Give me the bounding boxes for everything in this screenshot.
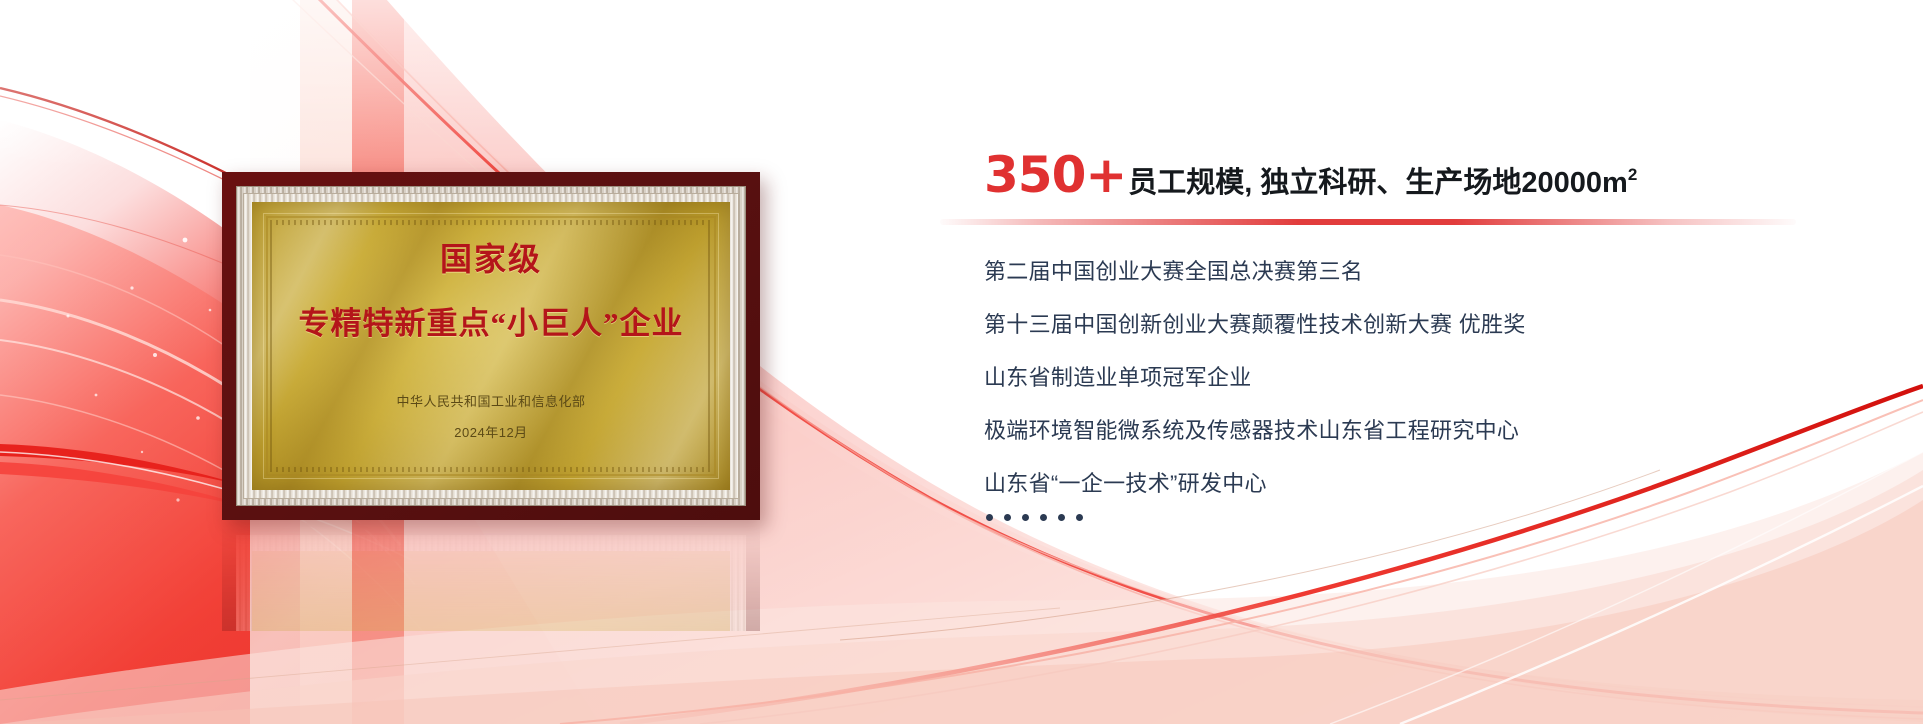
headline-metric-number: 350+ xyxy=(984,150,1126,200)
honors-list: 第二届中国创业大赛全国总决赛第三名 第十三届中国创新创业大赛颠覆性技术创新大赛 … xyxy=(984,261,1864,495)
plaque-text-block: 国家级 专精特新重点“小巨人”企业 中华人民共和国工业和信息化部 2024年12… xyxy=(262,218,720,480)
ellipsis-dot xyxy=(1040,514,1047,521)
ellipsis-dot xyxy=(1022,514,1029,521)
headline: 350+ 员工规模, 独立科研、生产场地20000m 2 xyxy=(984,150,1864,200)
headline-metric-text: 员工规模, 独立科研、生产场地20000m xyxy=(1128,169,1628,198)
plaque-reflection-gold-plate xyxy=(252,551,730,631)
headline-underline-rule xyxy=(940,219,1796,225)
plaque-title-line-1: 国家级 xyxy=(440,234,542,280)
ellipsis-dot xyxy=(986,514,993,521)
plaque-frame: 国家级 专精特新重点“小巨人”企业 中华人民共和国工业和信息化部 2024年12… xyxy=(222,172,760,520)
ellipsis-dot xyxy=(1058,514,1065,521)
plaque-date: 2024年12月 xyxy=(454,422,527,441)
ellipsis-dot xyxy=(1076,514,1083,521)
honor-item: 第二届中国创业大赛全国总决赛第三名 xyxy=(984,261,1864,283)
ellipsis-dot xyxy=(1004,514,1011,521)
honor-item: 山东省“一企一技术”研发中心 xyxy=(984,473,1864,495)
plaque-reflection xyxy=(222,521,760,631)
plaque-reflection-frame xyxy=(222,521,760,631)
plaque-title-line-2: 专精特新重点“小巨人”企业 xyxy=(299,298,684,343)
content-column: 350+ 员工规模, 独立科研、生产场地20000m 2 第二届中国创业大赛全国… xyxy=(984,150,1864,521)
honor-item: 第十三届中国创新创业大赛颠覆性技术创新大赛 优胜奖 xyxy=(984,314,1864,336)
honors-ellipsis xyxy=(986,514,1864,521)
honor-item: 山东省制造业单项冠军企业 xyxy=(984,367,1864,389)
plaque-reflection-silver-band xyxy=(236,535,746,631)
headline-superscript: 2 xyxy=(1628,166,1637,183)
award-plaque: 国家级 专精特新重点“小巨人”企业 中华人民共和国工业和信息化部 2024年12… xyxy=(222,172,760,520)
honors-banner: 国家级 专精特新重点“小巨人”企业 中华人民共和国工业和信息化部 2024年12… xyxy=(0,0,1923,724)
honor-item: 极端环境智能微系统及传感器技术山东省工程研究中心 xyxy=(984,420,1864,442)
plaque-issuer: 中华人民共和国工业和信息化部 xyxy=(396,391,585,410)
